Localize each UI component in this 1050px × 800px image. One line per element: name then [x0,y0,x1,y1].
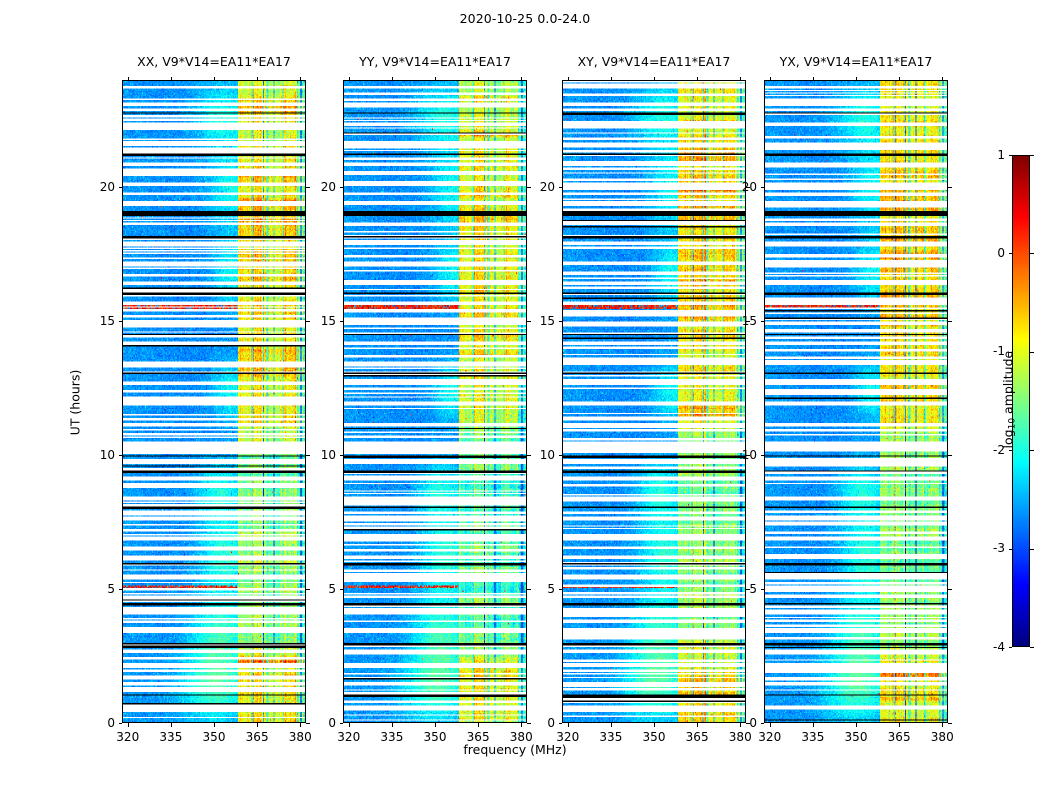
heatmap-panel-xx[interactable] [122,80,306,723]
colorbar-tick-mark [1009,549,1013,550]
colorbar-tick-mark [1030,450,1034,451]
y-tick-label: 20 [718,180,757,194]
y-tick-label: 15 [516,314,555,328]
x-tick-label: 320 [746,730,794,744]
y-tick-label: 10 [76,448,115,462]
x-tick-mark [435,723,436,727]
x-tick-mark [257,723,258,727]
y-tick-label: 0 [516,716,555,730]
x-tick-mark [568,77,569,81]
x-tick-label: 350 [832,730,880,744]
y-tick-mark [761,455,765,456]
y-tick-mark [948,723,952,724]
x-tick-mark [392,77,393,81]
y-tick-label: 15 [76,314,115,328]
x-tick-mark [740,77,741,81]
x-tick-mark [521,77,522,81]
y-tick-label: 5 [76,582,115,596]
x-tick-mark [942,723,943,727]
x-tick-mark [349,77,350,81]
x-tick-mark [214,77,215,81]
heatmap-panel-yy[interactable] [343,80,527,723]
figure-suptitle: 2020-10-25 0.0-24.0 [0,11,1050,26]
y-tick-mark [761,723,765,724]
x-tick-mark [257,77,258,81]
x-tick-mark [171,77,172,81]
y-tick-mark [761,321,765,322]
colorbar-tick-label: 1 [968,148,1005,162]
x-tick-mark [478,723,479,727]
x-tick-mark [899,77,900,81]
y-tick-label: 20 [297,180,336,194]
colorbar-tick-mark [1009,155,1013,156]
heatmap-image-yy [344,81,526,722]
figure-canvas: 2020-10-25 0.0-24.0 XX, V9*V14=EA11*EA17… [0,0,1050,800]
y-tick-mark [559,723,563,724]
y-tick-mark [559,455,563,456]
x-tick-mark [611,723,612,727]
x-tick-mark [214,723,215,727]
y-tick-mark [948,321,952,322]
colorbar-tick-mark [1030,352,1034,353]
colorbar-tick-mark [1030,155,1034,156]
y-tick-label: 0 [76,716,115,730]
colorbar-tick-mark [1030,647,1034,648]
colorbar-label-tail: amplitude [1000,351,1015,418]
panel-title-yx: YX, V9*V14=EA11*EA17 [764,54,948,69]
y-tick-mark [119,321,123,322]
y-tick-mark [119,723,123,724]
y-tick-label: 5 [297,582,336,596]
x-tick-mark [813,77,814,81]
y-tick-mark [119,589,123,590]
y-tick-label: 10 [516,448,555,462]
panel-title-xy: XY, V9*V14=EA11*EA17 [562,54,746,69]
panel-title-yy: YY, V9*V14=EA11*EA17 [343,54,527,69]
colorbar-label-text: log [1000,429,1015,448]
colorbar-label-subscript: 10 [1008,418,1018,429]
y-tick-mark [948,589,952,590]
x-tick-mark [856,723,857,727]
heatmap-image-xx [123,81,305,722]
x-tick-mark [770,77,771,81]
y-tick-label: 15 [718,314,757,328]
x-tick-mark [392,723,393,727]
x-axis-label: frequency (MHz) [330,742,700,757]
y-tick-label: 5 [718,582,757,596]
x-tick-mark [654,723,655,727]
x-tick-mark [478,77,479,81]
y-tick-label: 0 [297,716,336,730]
x-tick-mark [349,723,350,727]
y-tick-label: 5 [516,582,555,596]
x-tick-mark [697,77,698,81]
x-tick-label: 350 [190,730,238,744]
x-tick-label: 365 [233,730,281,744]
x-tick-mark [899,723,900,727]
heatmap-image-xy [563,81,745,722]
x-tick-label: 365 [875,730,923,744]
x-tick-mark [611,77,612,81]
x-tick-mark [942,77,943,81]
y-tick-label: 0 [718,716,757,730]
x-tick-mark [856,77,857,81]
y-tick-mark [119,187,123,188]
colorbar-tick-label: 0 [968,246,1005,260]
x-tick-mark [770,723,771,727]
x-tick-label: 335 [789,730,837,744]
y-tick-mark [340,589,344,590]
y-axis-label: UT (hours) [68,358,83,448]
colorbar-tick-mark [1009,647,1013,648]
x-tick-mark [813,723,814,727]
x-tick-mark [568,723,569,727]
x-tick-mark [654,77,655,81]
y-tick-label: 20 [516,180,555,194]
y-tick-mark [559,589,563,590]
y-tick-mark [761,589,765,590]
y-tick-mark [340,723,344,724]
x-tick-label: 380 [276,730,324,744]
x-tick-label: 335 [147,730,195,744]
y-tick-mark [340,455,344,456]
y-tick-label: 10 [297,448,336,462]
panel-title-xx: XX, V9*V14=EA11*EA17 [122,54,306,69]
x-tick-mark [697,723,698,727]
colorbar-tick-mark [1009,253,1013,254]
y-tick-mark [340,187,344,188]
y-tick-mark [761,187,765,188]
y-tick-mark [948,455,952,456]
x-tick-mark [435,77,436,81]
y-tick-mark [559,187,563,188]
x-tick-label: 380 [918,730,966,744]
x-tick-mark [128,723,129,727]
heatmap-panel-yx[interactable] [764,80,948,723]
y-tick-mark [559,321,563,322]
colorbar-label: log10 amplitude [1000,320,1017,480]
colorbar-tick-mark [1030,253,1034,254]
y-tick-mark [119,455,123,456]
colorbar-tick-label: -3 [968,541,1005,555]
colorbar-tick-mark [1030,549,1034,550]
y-tick-label: 10 [718,448,757,462]
x-tick-label: 320 [104,730,152,744]
heatmap-image-yx [765,81,947,722]
heatmap-panel-xy[interactable] [562,80,746,723]
y-tick-mark [340,321,344,322]
y-tick-mark [948,187,952,188]
y-tick-label: 15 [297,314,336,328]
y-tick-label: 20 [76,180,115,194]
x-tick-mark [128,77,129,81]
colorbar-tick-label: -4 [968,640,1005,654]
x-tick-mark [300,77,301,81]
x-tick-mark [171,723,172,727]
